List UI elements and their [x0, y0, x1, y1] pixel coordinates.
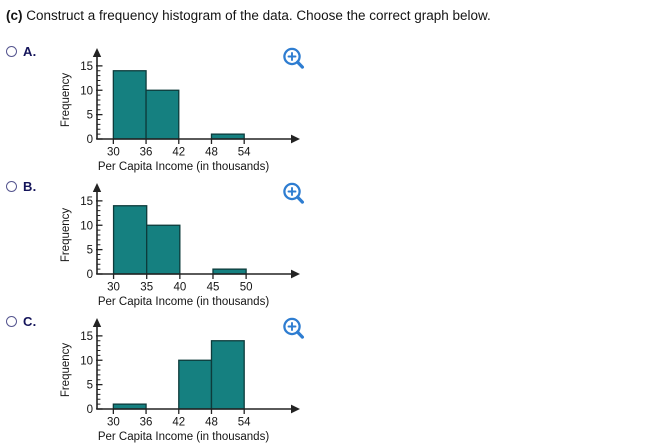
radio-option-c[interactable]: C. — [6, 314, 36, 329]
radio-option-b[interactable]: B. — [6, 179, 36, 194]
x-axis-tick-label: 36 — [140, 417, 153, 429]
option-letter-c: C. — [23, 314, 36, 329]
y-axis-title: Frequency — [60, 343, 72, 398]
option-letter-b: B. — [23, 179, 36, 194]
histogram-svg-c: 0510153036424854Per Capita Income (in th… — [48, 322, 310, 444]
y-axis-tick-label: 10 — [80, 355, 93, 367]
x-axis-tick-label: 35 — [140, 282, 153, 294]
x-axis-tick-label: 36 — [140, 147, 153, 159]
y-axis-tick-label: 15 — [80, 61, 93, 73]
question-part-label: (c) — [6, 8, 23, 23]
question-prompt: (c) Construct a frequency histogram of t… — [6, 8, 491, 24]
y-axis-tick-label: 5 — [87, 110, 93, 122]
histogram-svg-b: 0510153035404550Per Capita Income (in th… — [48, 187, 310, 309]
x-axis-tick-label: 45 — [207, 282, 220, 294]
radio-button-icon[interactable] — [6, 181, 17, 192]
x-axis-title: Per Capita Income (in thousands) — [98, 161, 269, 173]
y-axis-arrow-icon — [93, 318, 101, 327]
histogram-svg-a: 0510153036424854Per Capita Income (in th… — [48, 52, 310, 174]
option-letter-a: A. — [23, 44, 36, 59]
histogram-bar — [179, 360, 212, 409]
histogram-bar — [113, 71, 146, 139]
x-axis-tick-label: 54 — [238, 417, 251, 429]
y-axis-title: Frequency — [60, 73, 72, 128]
histogram-chart-a: 0510153036424854Per Capita Income (in th… — [48, 52, 308, 172]
histogram-chart-b: 0510153035404550Per Capita Income (in th… — [48, 187, 308, 307]
radio-button-icon[interactable] — [6, 316, 17, 327]
x-axis-tick-label: 30 — [107, 282, 120, 294]
histogram-bar — [211, 341, 244, 409]
x-axis-tick-label: 50 — [240, 282, 253, 294]
y-axis-tick-label: 15 — [80, 331, 93, 343]
y-axis-tick-label: 5 — [87, 245, 93, 257]
radio-button-icon[interactable] — [6, 46, 17, 57]
radio-option-a[interactable]: A. — [6, 44, 36, 59]
x-axis-tick-label: 54 — [238, 147, 251, 159]
y-axis-arrow-icon — [93, 48, 101, 57]
x-axis-tick-label: 30 — [107, 147, 120, 159]
x-axis-tick-label: 48 — [205, 417, 218, 429]
question-prompt-text: Construct a frequency histogram of the d… — [26, 8, 491, 23]
x-axis-arrow-icon — [291, 135, 300, 144]
x-axis-tick-label: 42 — [172, 417, 185, 429]
x-axis-tick-label: 48 — [205, 147, 218, 159]
y-axis-arrow-icon — [93, 183, 101, 192]
x-axis-arrow-icon — [291, 405, 300, 414]
y-axis-tick-label: 0 — [87, 404, 93, 416]
histogram-bar — [147, 225, 180, 274]
y-axis-tick-label: 5 — [87, 380, 93, 392]
histogram-bar — [114, 206, 147, 274]
x-axis-tick-label: 42 — [172, 147, 185, 159]
x-axis-title: Per Capita Income (in thousands) — [98, 431, 269, 443]
x-axis-title: Per Capita Income (in thousands) — [98, 296, 269, 308]
y-axis-title: Frequency — [60, 208, 72, 263]
y-axis-tick-label: 0 — [87, 134, 93, 146]
histogram-bar — [146, 90, 179, 139]
x-axis-arrow-icon — [291, 270, 300, 279]
x-axis-tick-label: 40 — [173, 282, 186, 294]
y-axis-tick-label: 15 — [80, 196, 93, 208]
y-axis-tick-label: 10 — [80, 220, 93, 232]
y-axis-tick-label: 10 — [80, 85, 93, 97]
y-axis-tick-label: 0 — [87, 269, 93, 281]
histogram-chart-c: 0510153036424854Per Capita Income (in th… — [48, 322, 308, 442]
x-axis-tick-label: 30 — [107, 417, 120, 429]
